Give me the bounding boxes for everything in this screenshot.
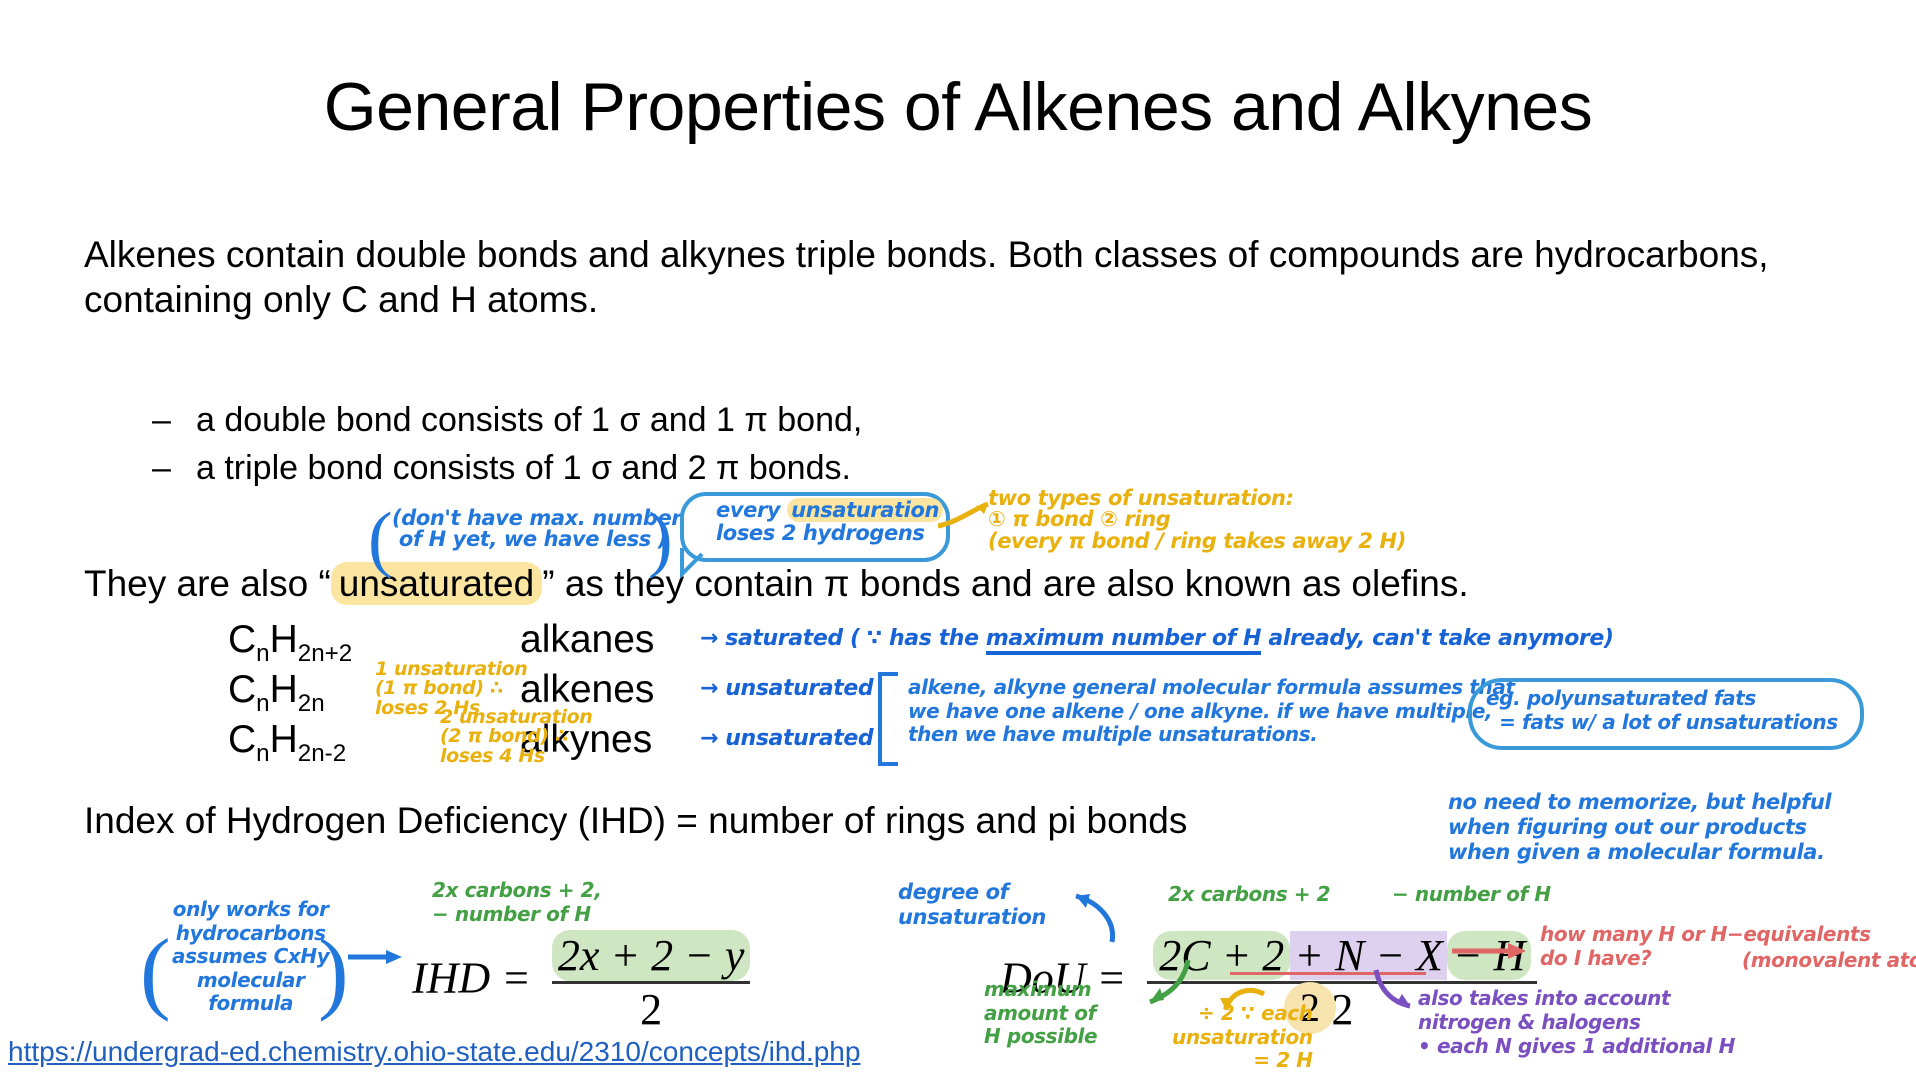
formula-alkenes: CnH2n (228, 668, 325, 718)
note-two-types-of-unsaturation: two types of unsaturation: ① π bond ② ri… (988, 488, 1406, 552)
note-ihd-green-legend: 2x carbons + 2, − number of H (432, 878, 601, 926)
note-dou-monovalent-atoms: (monovalent atoms) (1742, 950, 1916, 970)
formula-alkanes: CnH2n+2 (228, 618, 352, 668)
bullet-dash: – (152, 400, 174, 441)
note-alkanes-saturated: → saturated ( ∵ has the maximum number o… (700, 628, 1614, 650)
bullet-text: a triple bond consists of 1 σ and 2 π bo… (196, 448, 851, 489)
unsat-after: ” as they contain π bonds and are also k… (542, 563, 1468, 604)
formula-sub: 2n+2 (298, 640, 352, 667)
note-polyunsaturated-fats: eg. polyunsaturated fats = fats w/ a lot… (1486, 686, 1838, 734)
note-alkyne-unsaturation: 2 unsaturation (2 π bond) ∴ loses 4 Hs (440, 708, 592, 766)
note-dou-divide-by-two: ÷ 2 ∵ each unsaturation = 2 H (1172, 1002, 1313, 1073)
bullet-item-double-bond: – a double bond consists of 1 σ and 1 π … (152, 400, 862, 441)
formula-n: n (256, 740, 269, 767)
intro-paragraph: Alkenes contain double bonds and alkynes… (84, 232, 1844, 322)
formula-sub: 2n (298, 690, 325, 717)
red-underline (1230, 972, 1426, 975)
blue-arrow-icon (348, 946, 406, 968)
paren-left-icon: ( (368, 497, 393, 582)
note-degree-of-unsaturation: degree of unsaturation (898, 880, 1046, 930)
note-no-need-to-memorize: no need to memorize, but helpful when fi… (1448, 790, 1831, 864)
page-title: General Properties of Alkenes and Alkyne… (0, 72, 1916, 143)
formula-h: H (270, 718, 298, 761)
note-dou-green-right: − number of H (1392, 884, 1551, 904)
note-every-unsat-line2: loses 2 hydrogens (716, 523, 943, 544)
formula-n: n (256, 690, 269, 717)
formula-c: C (228, 618, 256, 661)
note-alkanes-tail: already, can't take anymore) (1261, 626, 1613, 651)
note-dont-have-max: (don't have max. number of H yet, we hav… (392, 508, 681, 551)
subscript-highlight-alkynes (357, 726, 453, 778)
note-only-works-hydrocarbons: only works for hydrocarbons assumes CxHy… (172, 898, 329, 1016)
note-alkanes-prefix: → saturated ( ∵ has the (700, 626, 986, 651)
note-alkanes-underlined: maximum number of H (986, 626, 1261, 655)
unsat-before: They are also “ (84, 563, 331, 604)
note-every-unsaturation: every unsaturation loses 2 hydrogens (716, 500, 943, 545)
bullet-text: a double bond consists of 1 σ and 1 π bo… (196, 400, 862, 441)
dou-num-green-2: − H (1447, 931, 1531, 980)
formula-label-alkanes: alkanes (520, 618, 654, 662)
note-general-formula-assumption: alkene, alkyne general molecular formula… (908, 676, 1515, 747)
note-dou-green-top: 2x carbons + 2 (1168, 884, 1330, 904)
unsaturated-sentence: They are also “unsaturated” as they cont… (84, 563, 1469, 605)
ihd-numerator: 2x + 2 − y (552, 930, 750, 981)
note-every-unsat-prefix: every (716, 498, 787, 522)
unsat-highlight: unsaturated (331, 562, 542, 605)
paren-right-icon: ) (318, 918, 349, 1024)
bullet-item-triple-bond: – a triple bond consists of 1 σ and 2 π … (152, 448, 851, 489)
formula-c: C (228, 668, 256, 711)
formula-n: n (256, 640, 269, 667)
formula-h: H (270, 618, 298, 661)
paren-left-icon: ( (140, 918, 171, 1024)
note-alkenes-unsaturated: → unsaturated (700, 678, 873, 700)
ihd-denominator: 2 (552, 981, 750, 1035)
formula-alkynes: CnH2n-2 (228, 718, 346, 768)
ihd-formula: IHD = 2x + 2 − y 2 (412, 930, 750, 1035)
formula-c: C (228, 718, 256, 761)
bracket-icon (876, 672, 902, 768)
formula-h: H (270, 668, 298, 711)
ihd-formula-lhs: IHD = (412, 954, 531, 1003)
ihd-definition-line: Index of Hydrogen Deficiency (IHD) = num… (84, 800, 1187, 842)
bullet-dash: – (152, 448, 174, 489)
note-alkynes-unsaturated: → unsaturated (700, 728, 873, 750)
note-dou-max-h-possible: maximum amount of H possible (984, 978, 1097, 1049)
note-every-unsat-keyword: unsaturation (787, 498, 943, 522)
formula-sub: 2n-2 (298, 740, 346, 767)
source-link[interactable]: https://undergrad-ed.chemistry.ohio-stat… (8, 1036, 860, 1068)
note-dou-nitrogen-halogens: also takes into account nitrogen & halog… (1418, 986, 1735, 1058)
